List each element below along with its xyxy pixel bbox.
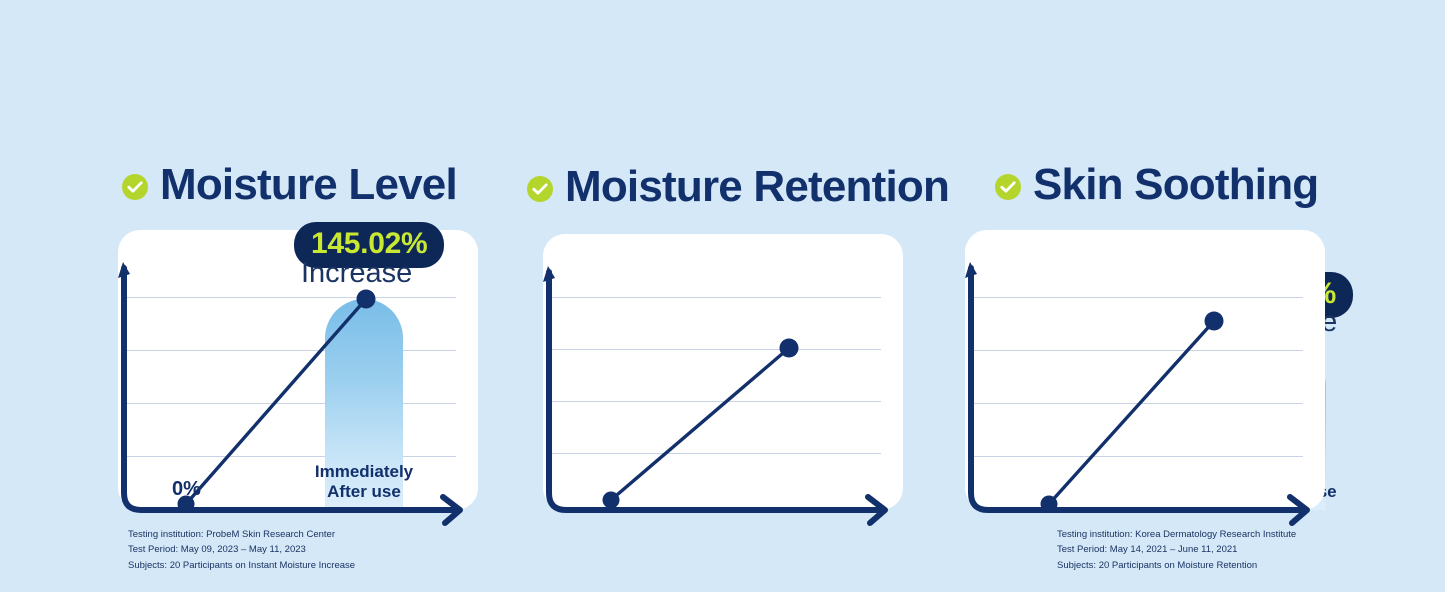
panel-title: Moisture Retention: [565, 165, 949, 209]
panel-title: Skin Soothing: [1033, 163, 1318, 207]
panel-heading: Moisture Level: [122, 163, 457, 207]
check-circle-icon: [122, 174, 148, 200]
gridline: [122, 350, 456, 351]
gridline: [547, 349, 881, 350]
chart-card: [543, 234, 903, 510]
infographic-board: Moisture Level 145.02% Increase 0% Immed…: [0, 0, 1445, 592]
check-circle-icon: [527, 176, 553, 202]
bar-caption: Immediately After use: [315, 462, 413, 502]
baseline-label: 0%: [172, 478, 201, 501]
gridlines: [118, 230, 478, 510]
gridline: [969, 403, 1303, 404]
gridline: [969, 350, 1303, 351]
increase-label: Increase: [301, 259, 412, 288]
gridline: [969, 456, 1303, 457]
gridline: [547, 453, 881, 454]
stat-panel-moisture-level: Moisture Level 145.02% Increase 0% Immed…: [0, 0, 500, 592]
chart-card: [118, 230, 478, 510]
bar-caption-line2: After use: [315, 482, 413, 502]
gridlines: [965, 230, 1325, 510]
gridline: [969, 297, 1303, 298]
footnote-institution: Testing institution: ProbeM Skin Researc…: [128, 527, 355, 542]
panel-heading: Skin Soothing: [995, 163, 1318, 207]
footnote-period: Test Period: May 09, 2023 – May 11, 2023: [128, 542, 355, 557]
stat-panel-skin-soothing: Skin Soothing 109.77% Increase 0% Immedi…: [950, 0, 1445, 592]
footnote-subjects: Subjects: 20 Participants on Instant Moi…: [128, 558, 355, 573]
gridline: [122, 297, 456, 298]
gridline: [547, 401, 881, 402]
gridlines: [543, 234, 903, 510]
panel-heading: Moisture Retention: [527, 165, 949, 209]
check-circle-icon: [995, 174, 1021, 200]
panel-title: Moisture Level: [160, 163, 457, 207]
chart-card: [965, 230, 1325, 510]
footnote: Testing institution: ProbeM Skin Researc…: [128, 527, 355, 573]
stat-panel-moisture-retention: Moisture Retention 30.85% Increase 0% Af…: [500, 0, 950, 592]
gridline: [122, 456, 456, 457]
bar-caption-line1: Immediately: [315, 462, 413, 482]
gridline: [122, 403, 456, 404]
gridline: [547, 297, 881, 298]
